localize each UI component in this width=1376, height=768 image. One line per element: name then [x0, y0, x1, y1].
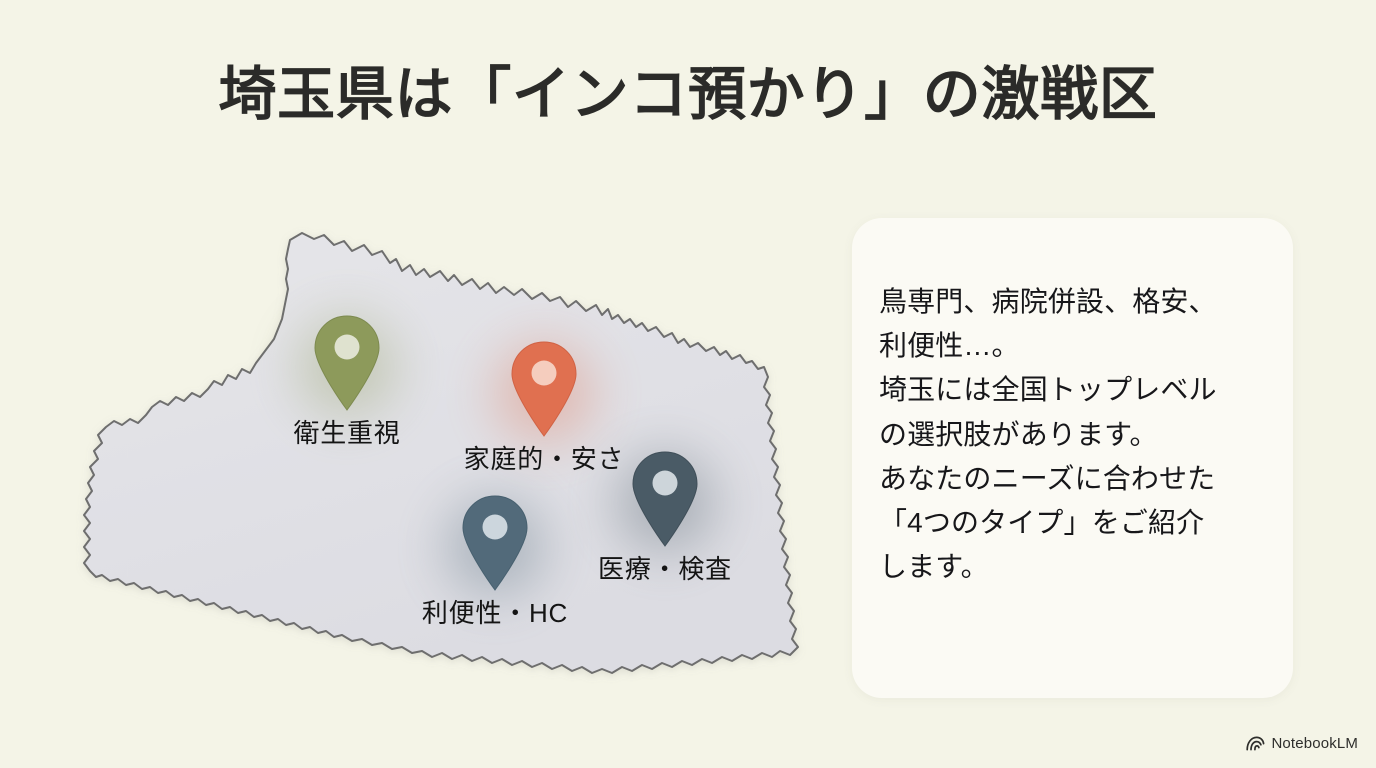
description-text: 鳥専門、病院併設、格安、 利便性…。 埼玉には全国トップレベル の選択肢がありま…: [879, 280, 1277, 590]
description-line: あなたのニーズに合わせた: [879, 457, 1277, 501]
map-pin-label: 利便性・HC: [422, 593, 568, 630]
location-pin-icon: [629, 451, 701, 547]
description-line: の選択肢があります。: [879, 413, 1277, 457]
notebooklm-watermark: NotebookLM: [1246, 735, 1358, 752]
watermark-label: NotebookLM: [1271, 735, 1358, 752]
description-line: 鳥専門、病院併設、格安、: [879, 280, 1277, 324]
description-line: します。: [879, 545, 1277, 589]
page-title: 埼玉県は「インコ預かり」の激戦区: [0, 62, 1376, 129]
slide-canvas: 埼玉県は「インコ預かり」の激戦区 衛生重視: [0, 0, 1376, 768]
map-pin-label: 医療・検査: [598, 549, 732, 586]
description-line: 埼玉には全国トップレベル: [879, 368, 1277, 412]
description-line: 「4つのタイプ」をご紹介: [879, 501, 1277, 545]
saitama-map-figure: 衛生重視 家庭的・安さ 医療・検査: [52, 215, 852, 685]
description-line: 利便性…。: [879, 324, 1277, 368]
notebooklm-logo-icon: [1246, 736, 1265, 751]
location-pin-icon: [508, 341, 580, 437]
location-pin-icon: [459, 495, 531, 591]
map-pin-label: 衛生重視: [293, 413, 400, 450]
location-pin-icon: [311, 315, 383, 411]
description-card: 鳥専門、病院併設、格安、 利便性…。 埼玉には全国トップレベル の選択肢がありま…: [852, 218, 1293, 698]
